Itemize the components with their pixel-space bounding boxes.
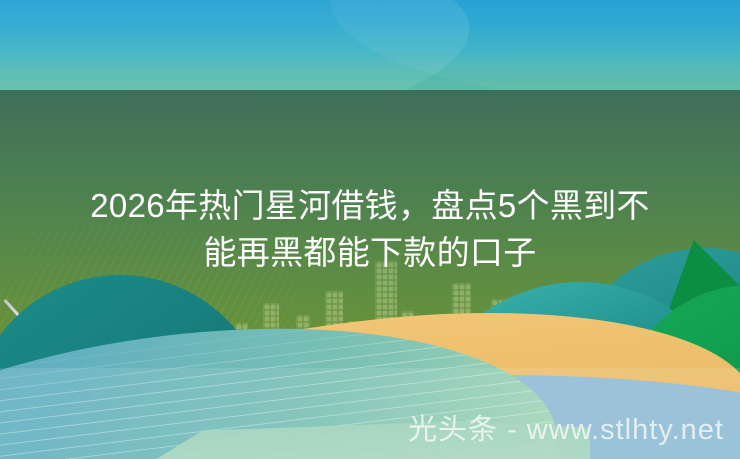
sky-background bbox=[0, 0, 740, 90]
article-cover-image: 2026年热门星河借钱，盘点5个黑到不 能再黑都能下款的口子 光头条 - www… bbox=[0, 0, 740, 459]
page-title: 2026年热门星河借钱，盘点5个黑到不 能再黑都能下款的口子 bbox=[24, 182, 716, 276]
title-container: 2026年热门星河借钱，盘点5个黑到不 能再黑都能下款的口子 bbox=[0, 182, 740, 276]
